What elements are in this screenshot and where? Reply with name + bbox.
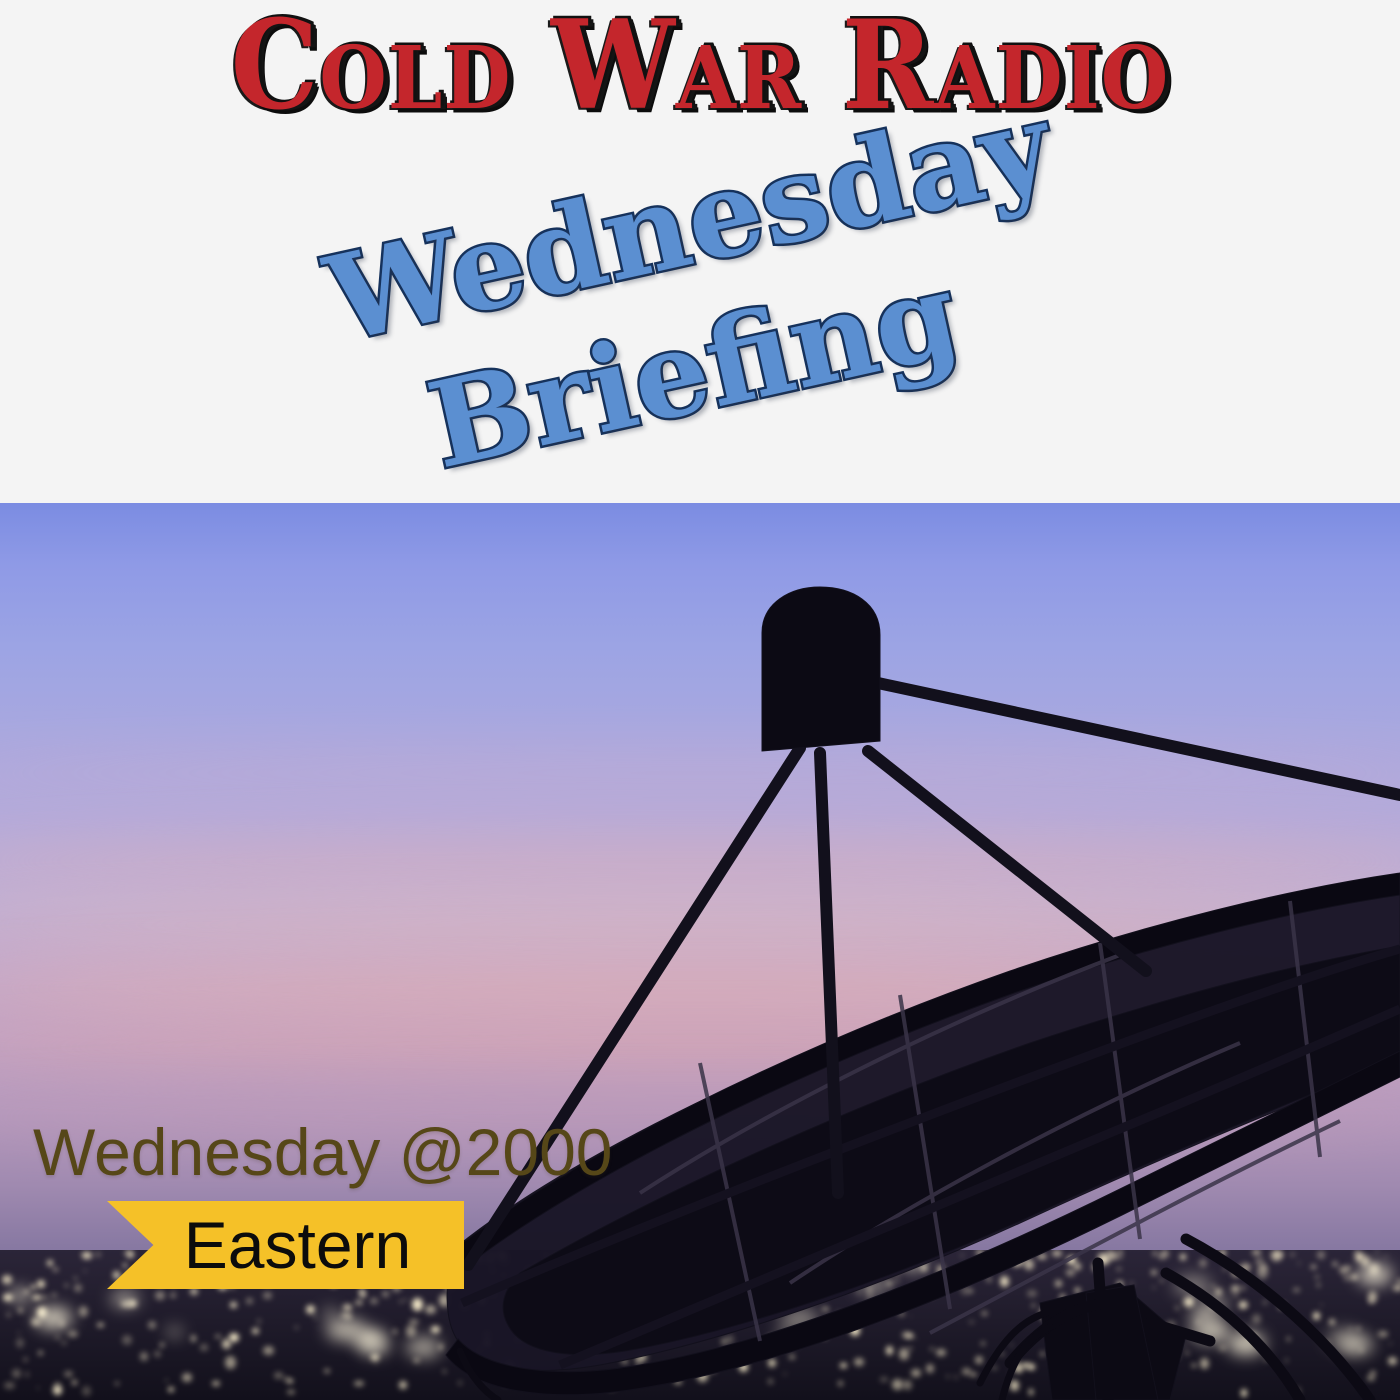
header-band: Cold War Radio Wednesday Briefing [0, 0, 1400, 503]
podcast-cover-art: Cold War Radio Wednesday Briefing [0, 0, 1400, 1400]
airtime-label: Wednesday @2000 [33, 1119, 613, 1185]
show-title: Cold War Radio [0, 4, 1400, 127]
timezone-label: Eastern [107, 1201, 464, 1289]
cover-photo: Wednesday @2000 Eastern SCR W [0, 503, 1400, 1400]
